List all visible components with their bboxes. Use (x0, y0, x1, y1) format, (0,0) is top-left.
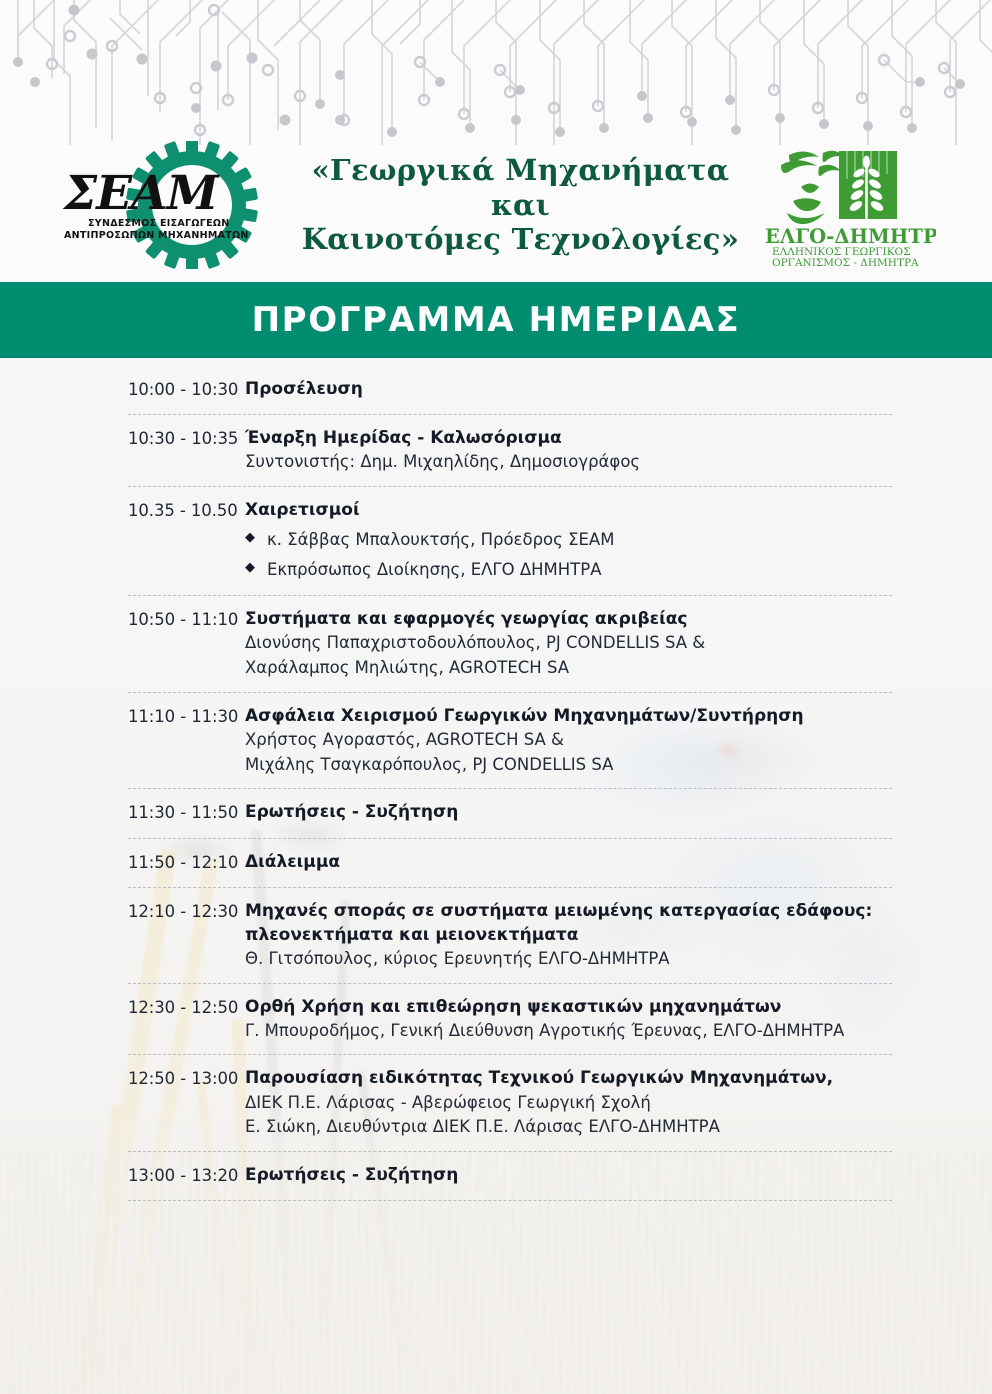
schedule-session-title: Προσέλευση (245, 377, 892, 401)
event-title-line-2: Καινοτόμες Τεχνολογίες» (288, 222, 753, 257)
schedule-row: 10:50 - 11:10Συστήματα και εφαρμογές γεω… (128, 596, 892, 692)
schedule-speaker: Χαράλαμπος Μηλιώτης, AGROTECH SA (245, 656, 892, 681)
schedule-speaker: Συντονιστής: Δημ. Μιχαηλίδης, Δημοσιογρά… (245, 450, 892, 475)
schedule-speaker: Θ. Γιτσόπουλος, κύριος Ερευνητής ΕΛΓΟ-ΔΗ… (245, 947, 892, 972)
schedule-time: 12:30 - 12:50 (128, 995, 240, 1021)
schedule-row: 10.35 - 10.50Χαιρετισμοί◆κ. Σάββας Μπαλο… (128, 487, 892, 595)
list-item: ◆Εκπρόσωπος Διοίκησης, ΕΛΓΟ ΔΗΜΗΤΡΑ (245, 555, 892, 585)
row-divider (128, 1200, 892, 1201)
schedule-row: 10:00 - 10:30Προσέλευση (128, 366, 892, 414)
schedule-time: 11:50 - 12:10 (128, 850, 240, 876)
schedule-time: 10.35 - 10.50 (128, 498, 240, 524)
bullet-text: κ. Σάββας Μπαλουκτσής, Πρόεδρος ΣΕΑΜ (267, 527, 614, 553)
diamond-bullet-icon: ◆ (245, 527, 267, 550)
schedule-row: 11:10 - 11:30Ασφάλεια Χειρισμού Γεωργικώ… (128, 693, 892, 789)
banner-shadow (0, 356, 992, 359)
schedule-session-title: Χαιρετισμοί (245, 498, 892, 522)
list-item: ◆κ. Σάββας Μπαλουκτσής, Πρόεδρος ΣΕΑΜ (245, 525, 892, 555)
schedule-row: 13:00 - 13:20Ερωτήσεις - Συζήτηση (128, 1152, 892, 1200)
schedule-session-title: Παρουσίαση ειδικότητας Τεχνικού Γεωργικώ… (245, 1066, 892, 1090)
schedule-time: 10:30 - 10:35 (128, 426, 240, 452)
schedule-session-title: Ασφάλεια Χειρισμού Γεωργικών Μηχανημάτων… (245, 704, 892, 728)
schedule-session-title: Διάλειμμα (245, 850, 892, 874)
schedule-content: Συστήματα και εφαρμογές γεωργίας ακριβεί… (240, 607, 892, 681)
program-banner: ΠΡΟΓΡΑΜΜΑ ΗΜΕΡΙΔΑΣ (0, 282, 992, 358)
schedule-time: 12:50 - 13:00 (128, 1066, 240, 1092)
schedule-session-title: Μηχανές σποράς σε συστήματα μειωμένης κα… (245, 899, 892, 947)
schedule-session-title: Ορθή Χρήση και επιθεώρηση ψεκαστικών μηχ… (245, 995, 892, 1019)
elgo-name: ΕΛΓΟ-ΔΗΜΗΤΡΑ (765, 225, 936, 248)
schedule-time: 10:00 - 10:30 (128, 377, 240, 403)
schedule-session-title: Ερωτήσεις - Συζήτηση (245, 800, 892, 824)
schedule-speaker: Διονύσης Παπαχριστοδουλόπουλος, PJ CONDE… (245, 631, 892, 656)
schedule-list: 10:00 - 10:30Προσέλευση10:30 - 10:35Έναρ… (0, 366, 992, 1201)
elgo-subtitle-line2: ΟΡΓΑΝΙΣΜΟΣ - ΔΗΜΗΤΡΑ (772, 257, 919, 268)
schedule-row: 12:50 - 13:00Παρουσίαση ειδικότητας Τεχν… (128, 1055, 892, 1151)
bullet-text: Εκπρόσωπος Διοίκησης, ΕΛΓΟ ΔΗΜΗΤΡΑ (267, 557, 602, 583)
schedule-time: 10:50 - 11:10 (128, 607, 240, 633)
schedule-content: Παρουσίαση ειδικότητας Τεχνικού Γεωργικώ… (240, 1066, 892, 1140)
event-title: «Γεωργικά Μηχανήματα και Καινοτόμες Τεχν… (270, 153, 761, 257)
brand-bar: ΣΕΑΜ ΣΥΝΔΕΣΜΟΣ ΕΙΣΑΓΩΓΕΩΝ ΑΝΤΙΠΡΟΣΩΠΩΝ Μ… (0, 130, 992, 280)
schedule-speaker: Χρήστος Αγοραστός, AGROTECH SA & (245, 728, 892, 753)
schedule-content: Έναρξη Ημερίδας - ΚαλωσόρισμαΣυντονιστής… (240, 426, 892, 475)
schedule-content: Ερωτήσεις - Συζήτηση (240, 1163, 892, 1187)
schedule-row: 11:50 - 12:10Διάλειμμα (128, 839, 892, 887)
schedule-time: 12:10 - 12:30 (128, 899, 240, 925)
schedule-row: 11:30 - 11:50Ερωτήσεις - Συζήτηση (128, 789, 892, 837)
schedule-bullet-list: ◆κ. Σάββας Μπαλουκτσής, Πρόεδρος ΣΕΑΜ◆Εκ… (245, 525, 892, 584)
schedule-session-title: Ερωτήσεις - Συζήτηση (245, 1163, 892, 1187)
schedule-speaker: Γ. Μπουροδήμος, Γενική Διεύθυνση Αγροτικ… (245, 1019, 892, 1044)
schedule-speaker: ΔΙΕΚ Π.Ε. Λάρισας - Αβερώφειος Γεωργική … (245, 1091, 892, 1116)
schedule-content: Προσέλευση (240, 377, 892, 401)
diamond-bullet-icon: ◆ (245, 557, 267, 580)
seam-acronym: ΣΕΑΜ (62, 166, 221, 221)
elgo-dimitra-logo: ΕΛΓΟ-ΔΗΜΗΤΡΑ ΕΛΛΗΝΙΚΟΣ ΓΕΩΡΓΙΚΟΣ ΟΡΓΑΝΙΣ… (761, 143, 936, 268)
schedule-time: 13:00 - 13:20 (128, 1163, 240, 1189)
schedule-content: Ερωτήσεις - Συζήτηση (240, 800, 892, 824)
schedule-time: 11:30 - 11:50 (128, 800, 240, 826)
wheat-icon (781, 150, 897, 223)
schedule-content: Μηχανές σποράς σε συστήματα μειωμένης κα… (240, 899, 892, 972)
seam-subtitle-line1: ΣΥΝΔΕΣΜΟΣ ΕΙΣΑΓΩΓΕΩΝ (88, 218, 230, 229)
schedule-content: Διάλειμμα (240, 850, 892, 874)
banner-title: ΠΡΟΓΡΑΜΜΑ ΗΜΕΡΙΔΑΣ (252, 300, 741, 340)
schedule-session-title: Έναρξη Ημερίδας - Καλωσόρισμα (245, 426, 892, 450)
schedule-speaker: Ε. Σιώκη, Διευθύντρια ΔΙΕΚ Π.Ε. Λάρισας … (245, 1115, 892, 1140)
seam-logo: ΣΕΑΜ ΣΥΝΔΕΣΜΟΣ ΕΙΣΑΓΩΓΕΩΝ ΑΝΤΙΠΡΟΣΩΠΩΝ Μ… (60, 141, 270, 269)
schedule-time: 11:10 - 11:30 (128, 704, 240, 730)
schedule-content: Χαιρετισμοί◆κ. Σάββας Μπαλουκτσής, Πρόεδ… (240, 498, 892, 584)
face-profile-icon (781, 150, 845, 223)
schedule-row: 12:30 - 12:50Ορθή Χρήση και επιθεώρηση ψ… (128, 984, 892, 1055)
schedule-session-title: Συστήματα και εφαρμογές γεωργίας ακριβεί… (245, 607, 892, 631)
schedule-row: 10:30 - 10:35Έναρξη Ημερίδας - Καλωσόρισ… (128, 415, 892, 486)
schedule-speaker: Μιχάλης Τσαγκαρόπουλος, PJ CONDELLIS SA (245, 753, 892, 778)
circuit-pattern-icon (0, 0, 992, 145)
schedule-content: Ορθή Χρήση και επιθεώρηση ψεκαστικών μηχ… (240, 995, 892, 1044)
event-title-line-1: «Γεωργικά Μηχανήματα και (288, 153, 753, 223)
seam-subtitle-line2: ΑΝΤΙΠΡΟΣΩΠΩΝ ΜΗΧΑΝΗΜΑΤΩΝ (64, 230, 249, 241)
schedule-row: 12:10 - 12:30Μηχανές σποράς σε συστήματα… (128, 888, 892, 983)
schedule-content: Ασφάλεια Χειρισμού Γεωργικών Μηχανημάτων… (240, 704, 892, 778)
